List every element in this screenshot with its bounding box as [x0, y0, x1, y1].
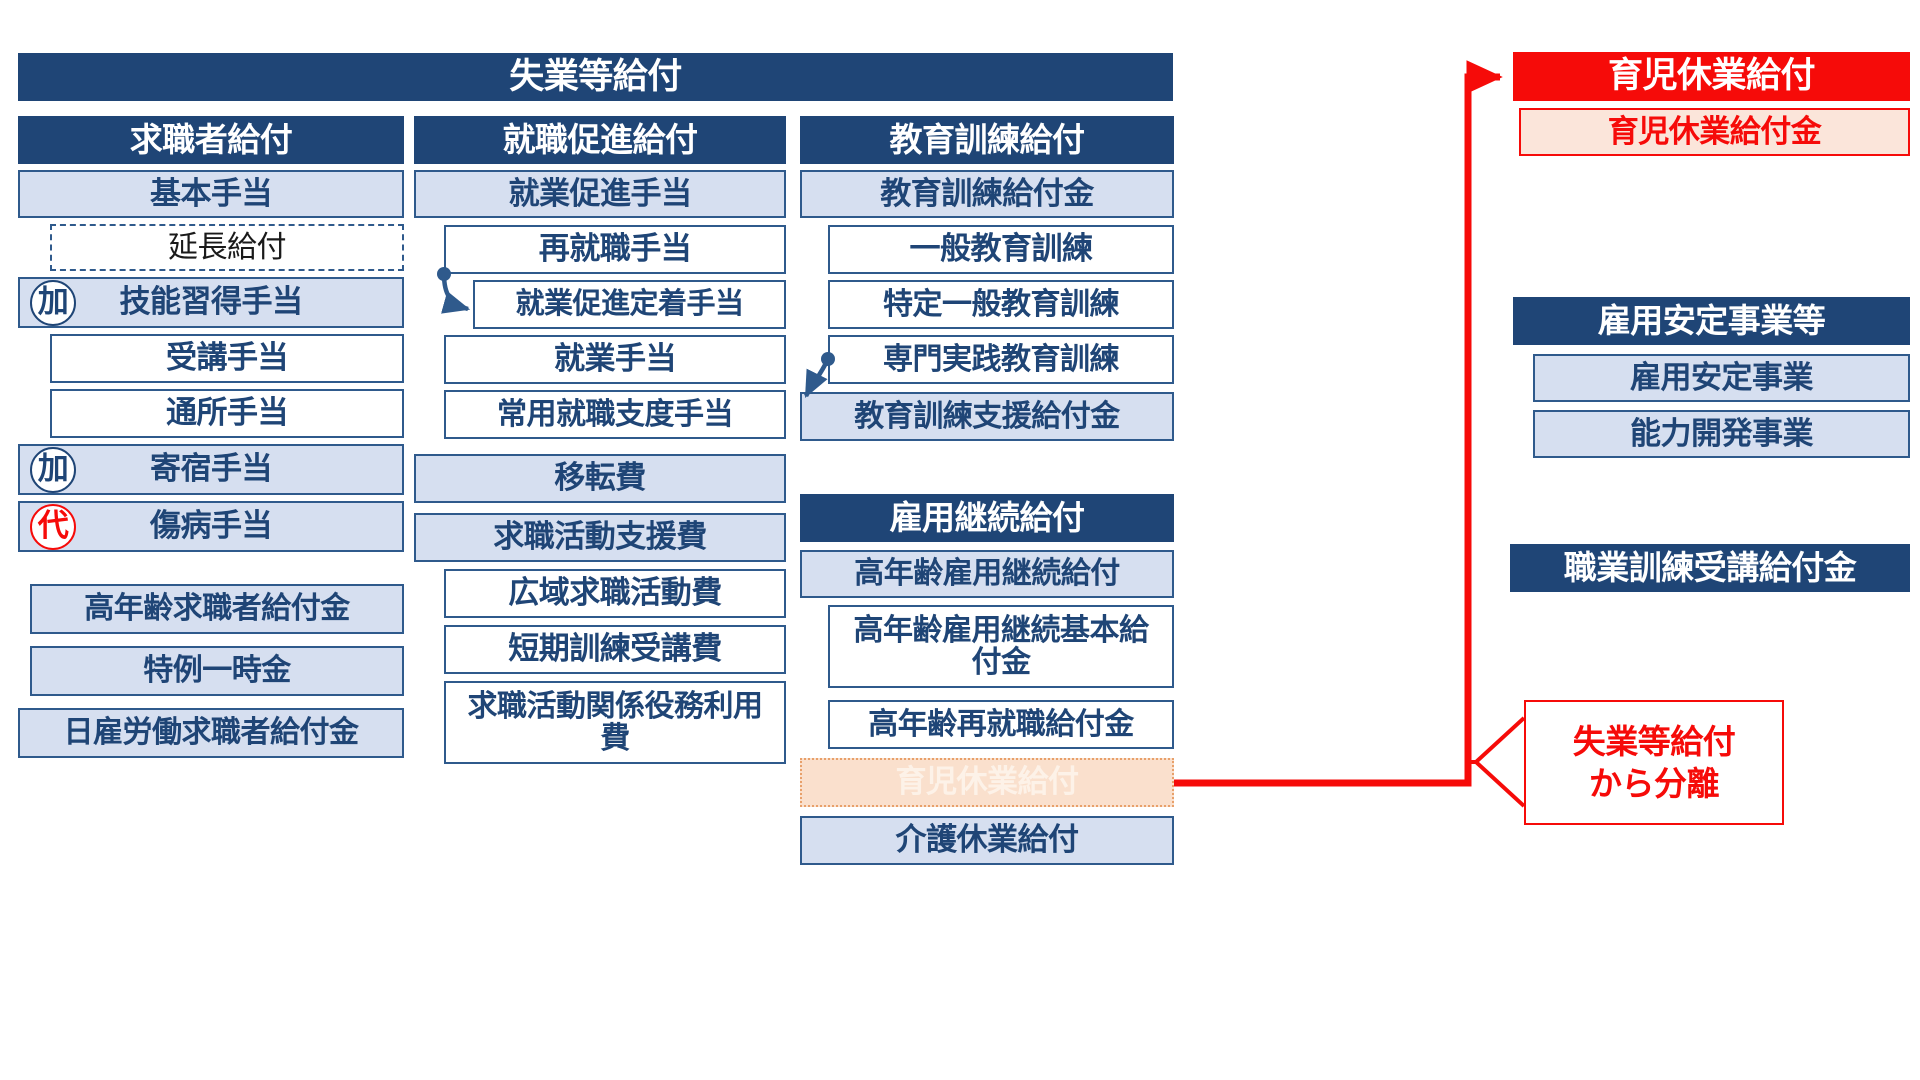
callout-line2: から分離	[1589, 763, 1719, 804]
right-header-vocational-training: 職業訓練受講給付金	[1510, 544, 1910, 592]
item-label: 技能習得手当	[120, 286, 303, 319]
column-header-employment-promotion: 就職促進給付	[414, 116, 786, 164]
item-ippan-kyouiku-kunren[interactable]: 一般教育訓練	[828, 225, 1174, 274]
item-shoubyou-teate[interactable]: 代 傷病手当	[18, 501, 404, 552]
item-label: 傷病手当	[150, 510, 272, 543]
item-kounenrei-kyuushokusha-kyufukin[interactable]: 高年齢求職者給付金	[30, 584, 404, 634]
item-kyouiku-kunren-kyufukin[interactable]: 教育訓練給付金	[800, 170, 1174, 218]
item-kyouiku-kunren-shien-kyufukin[interactable]: 教育訓練支援給付金	[800, 392, 1174, 441]
badge-add-icon: 加	[30, 447, 76, 493]
callout-line1: 失業等給付	[1573, 721, 1736, 762]
item-tsuusho-teate[interactable]: 通所手当	[50, 389, 404, 438]
column-header-employment-continuation: 雇用継続給付	[800, 494, 1174, 542]
item-saishushoku-teate[interactable]: 再就職手当	[444, 225, 786, 274]
item-jouyou-shushoku-shitaku-teate[interactable]: 常用就職支度手当	[444, 390, 786, 439]
item-ikuji-kyuugyou-kyufu-ghost[interactable]: 育児休業給付	[800, 758, 1174, 807]
item-shugyo-sokushin-teichaku-teate[interactable]: 就業促進定着手当	[473, 280, 786, 329]
item-kounenrei-koyou-keizoku-kihon-kyufukin[interactable]: 高年齢雇用継続基本給付金	[828, 605, 1174, 688]
item-shugyo-teate[interactable]: 就業手当	[444, 335, 786, 384]
item-tokutei-ippan-kyouiku-kunren[interactable]: 特定一般教育訓練	[828, 280, 1174, 329]
item-koyou-antei-jigyou[interactable]: 雇用安定事業	[1533, 354, 1910, 402]
item-kaigo-kyuugyou-kyufu[interactable]: 介護休業給付	[800, 816, 1174, 865]
item-kihon-teate[interactable]: 基本手当	[18, 170, 404, 218]
item-encho-kyufu[interactable]: 延長給付	[50, 224, 404, 271]
column-header-jobseeker: 求職者給付	[18, 116, 404, 164]
item-kounenrei-saishushoku-kyufukin[interactable]: 高年齢再就職給付金	[828, 700, 1174, 749]
item-kouiki-kyuushoku-katsudouhi[interactable]: 広域求職活動費	[444, 569, 786, 618]
item-itenhi[interactable]: 移転費	[414, 454, 786, 503]
item-label: 寄宿手当	[150, 453, 272, 486]
main-title: 失業等給付	[18, 53, 1173, 101]
callout-separated-from-unemployment-benefits: 失業等給付 から分離	[1524, 700, 1784, 825]
item-tokurei-ichijikin[interactable]: 特例一時金	[30, 646, 404, 696]
item-kyuushoku-katsudou-shienhi[interactable]: 求職活動支援費	[414, 513, 786, 562]
item-senmon-jissen-kyouiku-kunren[interactable]: 専門実践教育訓練	[828, 335, 1174, 384]
item-nouryoku-kaihatsu-jigyou[interactable]: 能力開発事業	[1533, 410, 1910, 458]
item-shugyo-sokushin-teate[interactable]: 就業促進手当	[414, 170, 786, 218]
connector-callout-bracket	[1468, 718, 1524, 806]
connector-ikuji-separation	[1174, 77, 1500, 783]
item-kyuushoku-katsudou-kankei-ekimu-riyouhi[interactable]: 求職活動関係役務利用費	[444, 681, 786, 764]
item-tanki-kunren-jukouhi[interactable]: 短期訓練受講費	[444, 625, 786, 674]
item-ginou-shutoku-teate[interactable]: 加 技能習得手当	[18, 277, 404, 328]
diagram-canvas: 失業等給付 求職者給付 基本手当 延長給付 加 技能習得手当 受講手当 通所手当…	[0, 0, 1920, 1080]
item-hiyatoi-roudou-kyuushokusha-kyufukin[interactable]: 日雇労働求職者給付金	[18, 708, 404, 758]
badge-add-icon: 加	[30, 280, 76, 326]
item-kounenrei-koyou-keizoku-kyufu[interactable]: 高年齢雇用継続給付	[800, 550, 1174, 598]
right-header-employment-stability: 雇用安定事業等	[1513, 297, 1910, 345]
right-header-childcare: 育児休業給付	[1513, 52, 1910, 101]
column-header-education-training: 教育訓練給付	[800, 116, 1174, 164]
item-kishuku-teate[interactable]: 加 寄宿手当	[18, 444, 404, 495]
item-ikuji-kyuugyou-kyufukin[interactable]: 育児休業給付金	[1519, 108, 1910, 156]
badge-substitute-icon: 代	[30, 504, 76, 550]
item-jukou-teate[interactable]: 受講手当	[50, 334, 404, 383]
